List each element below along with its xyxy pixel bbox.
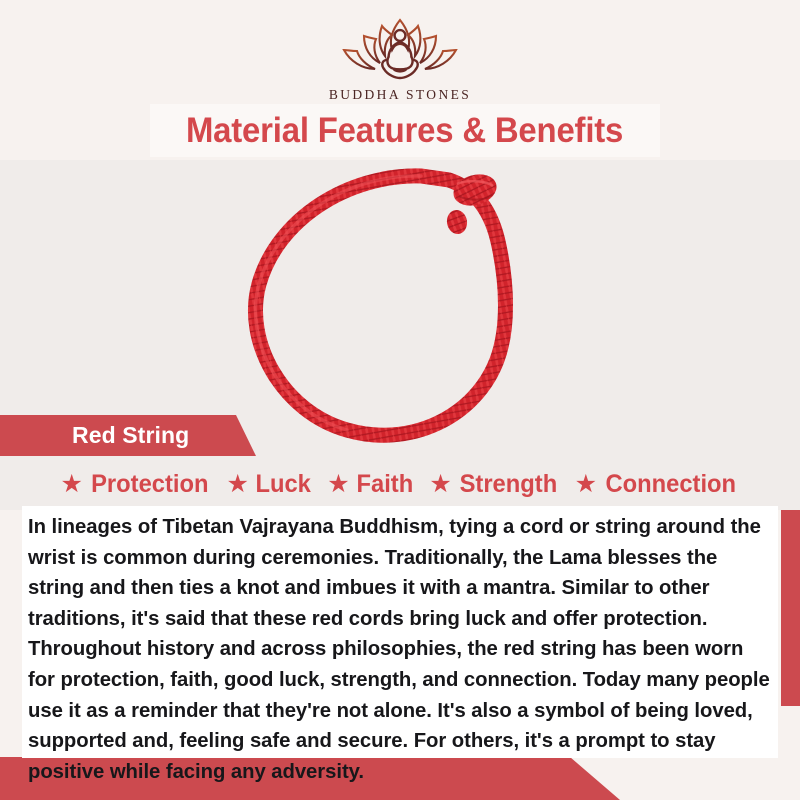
title-banner: Material Features & Benefits xyxy=(150,104,660,157)
red-braided-string-bracelet-icon xyxy=(235,160,595,450)
star-icon: ★ xyxy=(227,472,249,497)
benefit-item-connection: ★ Connection xyxy=(575,470,740,499)
description-text: In lineages of Tibetan Vajrayana Buddhis… xyxy=(28,512,770,787)
description-panel: In lineages of Tibetan Vajrayana Buddhis… xyxy=(22,506,778,758)
benefit-label: Connection xyxy=(605,470,736,499)
benefit-label: Strength xyxy=(459,470,557,499)
material-label: Red String xyxy=(72,422,189,449)
lotus-meditation-logo-icon xyxy=(326,12,474,84)
product-photo-panel xyxy=(0,160,800,510)
infographic-poster: BUDDHA STONES Material Features & Benefi… xyxy=(0,0,800,800)
benefit-item-luck: ★ Luck xyxy=(227,470,313,499)
star-icon: ★ xyxy=(575,472,597,497)
benefit-item-strength: ★ Strength xyxy=(429,470,559,499)
brand-logo: BUDDHA STONES xyxy=(0,12,800,103)
brand-name: BUDDHA STONES xyxy=(329,87,471,103)
benefit-label: Faith xyxy=(356,470,413,499)
benefit-label: Luck xyxy=(255,470,310,499)
benefit-item-faith: ★ Faith xyxy=(327,470,414,499)
benefit-item-protection: ★ Protection xyxy=(60,470,211,499)
material-banner: Red String xyxy=(0,415,256,456)
star-icon: ★ xyxy=(429,472,451,497)
benefits-row: ★ Protection ★ Luck ★ Faith ★ Strength ★… xyxy=(0,463,800,505)
star-icon: ★ xyxy=(327,472,349,497)
star-icon: ★ xyxy=(60,472,82,497)
benefit-label: Protection xyxy=(91,470,208,499)
page-title: Material Features & Benefits xyxy=(186,111,623,151)
